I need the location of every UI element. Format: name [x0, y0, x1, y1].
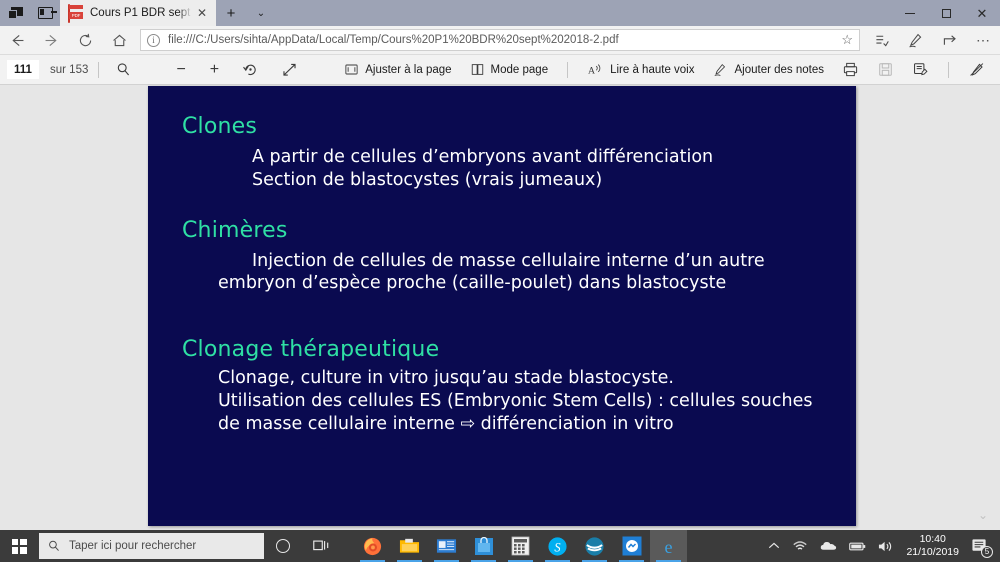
slide-body-line: Clonage, culture in vitro jusqu’au stade… [182, 367, 856, 390]
fit-to-page-icon [344, 62, 359, 77]
onedrive-status-button[interactable] [814, 530, 843, 562]
slide-body-line: Utilisation des cellules ES (Embryonic S… [182, 390, 856, 413]
taskbar-app-list: S e [354, 530, 687, 562]
page-mode-button[interactable]: Mode page [461, 55, 558, 85]
windows-taskbar: Taper ici pour rechercher [0, 530, 1000, 562]
notifications-badge: 5 [981, 546, 993, 558]
add-notes-button[interactable]: Ajouter des notes [703, 55, 833, 85]
slide-body-line: embryon d’espèce proche (caille-poulet) … [182, 272, 856, 295]
slide-heading: Chimères [182, 218, 856, 243]
add-notes-label: Ajouter des notes [734, 64, 824, 76]
system-tray: 10:40 21/10/2019 5 [762, 530, 1000, 562]
stream-icon [584, 536, 605, 557]
zoom-in-button[interactable]: + [198, 55, 231, 85]
volume-status-button[interactable] [872, 530, 900, 562]
address-bar[interactable]: i file:///C:/Users/sihta/AppData/Local/T… [140, 29, 860, 51]
battery-status-button[interactable] [843, 530, 872, 562]
pdf-view-controls: − + [164, 55, 309, 85]
slide-section: Clonage thérapeutique Clonage, culture i… [182, 337, 856, 435]
taskbar-app-messenger[interactable] [613, 530, 650, 562]
close-icon: ✕ [977, 7, 988, 20]
refresh-button[interactable] [68, 26, 102, 55]
navbar-actions: ⋯ [864, 26, 1000, 55]
taskbar-app-mail[interactable] [428, 530, 465, 562]
home-icon [111, 32, 128, 49]
task-view-icon [313, 539, 330, 554]
fit-to-page-button[interactable]: Ajuster à la page [335, 55, 460, 85]
minimize-button[interactable] [892, 0, 928, 26]
taskbar-app-skype[interactable]: S [539, 530, 576, 562]
onedrive-icon [820, 540, 837, 552]
cortana-button[interactable] [264, 530, 302, 562]
taskbar-app-edge[interactable]: e [650, 530, 687, 562]
slide-body-line: A partir de cellules d’embryons avant di… [182, 146, 856, 169]
clock-time: 10:40 [906, 533, 959, 546]
chevron-down-icon[interactable]: ⌄ [246, 0, 276, 26]
share-icon[interactable] [932, 26, 966, 55]
pdf-icon: PDF [68, 5, 83, 21]
new-tab-button[interactable]: + [216, 0, 246, 26]
taskbar-app-file-explorer[interactable] [391, 530, 428, 562]
calculator-icon [511, 536, 530, 556]
slide-body-line: Section de blastocystes (vrais jumeaux) [182, 169, 856, 192]
store-icon [474, 537, 494, 556]
skype-icon: S [547, 536, 568, 557]
browser-tab[interactable]: PDF Cours P1 BDR sept 2018 ✕ [60, 0, 216, 26]
wifi-icon [792, 539, 808, 553]
page-number-input[interactable]: 111 [6, 59, 40, 80]
close-button[interactable]: ✕ [964, 0, 1000, 26]
browser-navigation-bar: i file:///C:/Users/sihta/AppData/Local/T… [0, 26, 1000, 55]
rotate-icon[interactable] [231, 55, 270, 85]
favorite-star-icon[interactable]: ☆ [841, 32, 853, 48]
home-button[interactable] [102, 26, 136, 55]
tab-close-button[interactable]: ✕ [192, 3, 212, 23]
slide-section: Clones A partir de cellules d’embryons a… [182, 114, 856, 192]
print-icon[interactable] [833, 55, 868, 85]
svg-text:S: S [554, 540, 560, 554]
arrow-left-icon [9, 32, 26, 49]
task-view-button[interactable] [302, 530, 340, 562]
arrow-right-icon [43, 32, 60, 49]
site-info-icon[interactable]: i [147, 34, 160, 47]
cortana-icon [276, 539, 290, 553]
toolbar-divider [948, 62, 949, 78]
mail-icon [436, 537, 457, 555]
slide-section: Chimères Injection de cellules de masse … [182, 218, 856, 296]
set-tabs-aside-icon [8, 7, 23, 19]
toolbar-divider [98, 62, 99, 78]
svg-text:A: A [588, 65, 595, 76]
slide-heading: Clones [182, 114, 856, 139]
pdf-page-slide: Clones A partir de cellules d’embryons a… [148, 86, 856, 526]
address-bar-url: file:///C:/Users/sihta/AppData/Local/Tem… [168, 34, 841, 46]
page-mode-label: Mode page [491, 64, 549, 76]
tab-title: Cours P1 BDR sept 2018 [90, 7, 192, 19]
tab-bar-drag-area [276, 0, 892, 26]
read-aloud-label: Lire à haute voix [610, 64, 694, 76]
fullscreen-icon[interactable] [270, 55, 309, 85]
search-icon[interactable] [109, 55, 138, 85]
read-aloud-button[interactable]: A Lire à haute voix [578, 55, 703, 85]
reading-list-icon[interactable] [864, 26, 898, 55]
taskbar-app-stream[interactable] [576, 530, 613, 562]
pdf-toolbar: 111 sur 153 − + [0, 55, 1000, 85]
taskbar-app-store[interactable] [465, 530, 502, 562]
windows-logo-icon [12, 539, 27, 554]
more-settings-icon[interactable]: ⋯ [966, 26, 1000, 55]
taskbar-app-firefox[interactable] [354, 530, 391, 562]
save-icon[interactable] [868, 55, 903, 85]
notes-pen-icon[interactable] [898, 26, 932, 55]
refresh-icon [77, 32, 94, 49]
read-aloud-icon: A [587, 62, 604, 77]
taskbar-search-placeholder: Taper ici pour rechercher [69, 540, 196, 552]
scroll-down-chevron-icon[interactable]: ⌄ [978, 508, 988, 522]
page-mode-icon [470, 62, 485, 77]
pdf-viewer-area[interactable]: Clones A partir de cellules d’embryons a… [0, 86, 1000, 530]
notifications-button[interactable]: 5 [967, 530, 994, 562]
back-button[interactable] [0, 26, 34, 55]
toolbar-divider [567, 62, 568, 78]
browser-tab-bar: PDF Cours P1 BDR sept 2018 ✕ + ⌄ ✕ [0, 0, 1000, 26]
volume-icon [878, 540, 894, 553]
tray-overflow-button[interactable] [762, 530, 786, 562]
set-tabs-aside-button[interactable] [0, 0, 30, 26]
messenger-icon [622, 536, 642, 556]
fit-to-page-label: Ajuster à la page [365, 64, 451, 76]
taskbar-clock[interactable]: 10:40 21/10/2019 [900, 533, 967, 559]
clock-date: 21/10/2019 [906, 546, 959, 559]
edge-icon: e [658, 536, 679, 557]
chevron-up-icon [768, 541, 780, 551]
pdf-toolbar-actions: Ajuster à la page Mode page A Lire à hau… [335, 55, 1000, 85]
pdf-icon-label: PDF [69, 12, 70, 19]
maximize-restore-button[interactable] [928, 0, 964, 26]
tabs-set-aside-list-button[interactable] [30, 0, 60, 26]
start-button[interactable] [0, 530, 38, 562]
slide-body-line: Injection de cellules de masse cellulair… [182, 250, 856, 273]
tabs-aside-list-icon [38, 7, 53, 19]
clear-ink-icon[interactable] [959, 55, 994, 85]
forward-button[interactable] [34, 26, 68, 55]
page-total-label: sur 153 [50, 64, 88, 76]
zoom-out-button[interactable]: − [164, 55, 197, 85]
file-explorer-icon [399, 537, 420, 555]
add-notes-icon [712, 62, 728, 77]
window-controls: ✕ [892, 0, 1000, 26]
wifi-status-button[interactable] [786, 530, 814, 562]
slide-body-line: de masse cellulaire interne ⇨ différenci… [182, 413, 856, 436]
svg-text:e: e [664, 537, 672, 557]
slide-heading: Clonage thérapeutique [182, 337, 856, 362]
taskbar-app-calculator[interactable] [502, 530, 539, 562]
save-as-icon[interactable] [903, 55, 938, 85]
taskbar-search-box[interactable]: Taper ici pour rechercher [39, 533, 264, 559]
firefox-icon [362, 536, 383, 557]
search-icon [47, 539, 61, 553]
battery-icon [849, 541, 866, 552]
